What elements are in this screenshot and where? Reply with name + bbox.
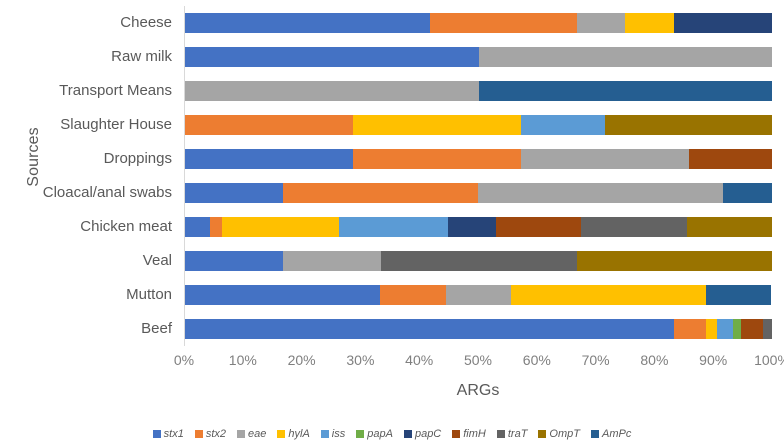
x-axis-tick-label: 40%	[405, 352, 433, 368]
y-axis-label: Cloacal/anal swabs	[43, 176, 172, 210]
bar-segment-OmpT[interactable]	[687, 217, 772, 237]
bar-segment-stx2[interactable]	[674, 319, 706, 339]
plot-area	[184, 6, 772, 346]
bar-segment-stx2[interactable]	[210, 217, 222, 237]
stacked-bar[interactable]	[185, 319, 772, 339]
bar-segment-iss[interactable]	[717, 319, 733, 339]
x-axis-ticks: 0%10%20%30%40%50%60%70%80%90%100%	[184, 352, 772, 374]
legend-swatch-icon	[452, 430, 460, 438]
bar-segment-traT[interactable]	[381, 251, 576, 271]
legend-swatch-icon	[321, 430, 329, 438]
bar-row	[185, 142, 772, 176]
bar-segment-AmPc[interactable]	[479, 81, 773, 101]
bar-segment-stx2[interactable]	[283, 183, 478, 203]
x-axis-tick-label: 30%	[346, 352, 374, 368]
y-axis-label: Transport Means	[59, 74, 172, 108]
bar-segment-iss[interactable]	[339, 217, 448, 237]
stacked-bar[interactable]	[185, 13, 772, 33]
legend-label: OmpT	[549, 428, 580, 440]
legend-label: AmPc	[602, 428, 631, 440]
bar-segment-papC[interactable]	[674, 13, 772, 33]
bar-segment-eae[interactable]	[478, 183, 723, 203]
legend-item-stx2[interactable]: stx2	[195, 428, 226, 440]
legend-item-traT[interactable]: traT	[497, 428, 528, 440]
bar-segment-stx1[interactable]	[185, 149, 353, 169]
bar-segment-stx2[interactable]	[430, 13, 577, 33]
stacked-bar[interactable]	[185, 115, 772, 135]
bar-row	[185, 40, 772, 74]
y-axis-label: Beef	[141, 312, 172, 346]
x-axis-tick-label: 50%	[464, 352, 492, 368]
legend-item-OmpT[interactable]: OmpT	[538, 428, 580, 440]
y-axis-label: Mutton	[126, 278, 172, 312]
x-axis-title: ARGs	[184, 382, 772, 400]
bar-segment-hylA[interactable]	[706, 319, 717, 339]
legend-item-papA[interactable]: papA	[356, 428, 393, 440]
bar-segment-stx1[interactable]	[185, 13, 430, 33]
x-axis-tick-label: 60%	[523, 352, 551, 368]
legend-swatch-icon	[404, 430, 412, 438]
bar-segment-iss[interactable]	[521, 115, 605, 135]
legend-label: fimH	[463, 428, 486, 440]
legend-item-papC[interactable]: papC	[404, 428, 441, 440]
x-axis-tick-label: 20%	[288, 352, 316, 368]
y-axis-label: Slaughter House	[60, 108, 172, 142]
x-axis-tick-label: 100%	[754, 352, 784, 368]
bar-segment-traT[interactable]	[763, 319, 772, 339]
legend-label: traT	[508, 428, 528, 440]
bar-segment-eae[interactable]	[283, 251, 381, 271]
bar-segment-hylA[interactable]	[625, 13, 674, 33]
bar-segment-papC[interactable]	[448, 217, 496, 237]
bar-segment-eae[interactable]	[479, 47, 773, 67]
legend-swatch-icon	[153, 430, 161, 438]
y-axis-label: Raw milk	[111, 40, 172, 74]
x-axis-tick-label: 0%	[174, 352, 194, 368]
legend-label: eae	[248, 428, 266, 440]
legend-item-stx1[interactable]: stx1	[153, 428, 184, 440]
legend-swatch-icon	[237, 430, 245, 438]
bar-segment-hylA[interactable]	[511, 285, 706, 305]
bar-segment-stx1[interactable]	[185, 285, 380, 305]
stacked-bar[interactable]	[185, 81, 772, 101]
stacked-bar[interactable]	[185, 47, 772, 67]
y-axis-label: Chicken meat	[80, 210, 172, 244]
y-axis-label: Veal	[143, 244, 172, 278]
legend-item-AmPc[interactable]: AmPc	[591, 428, 631, 440]
legend-swatch-icon	[497, 430, 505, 438]
bar-segment-traT[interactable]	[581, 217, 687, 237]
bar-row	[185, 108, 772, 142]
bar-row	[185, 74, 772, 108]
bar-segment-stx1[interactable]	[185, 47, 479, 67]
legend-item-eae[interactable]: eae	[237, 428, 266, 440]
bar-segment-papA[interactable]	[733, 319, 741, 339]
y-axis-category-labels: CheeseRaw milkTransport MeansSlaughter H…	[0, 6, 178, 346]
stacked-bar[interactable]	[185, 217, 772, 237]
legend-item-hylA[interactable]: hylA	[277, 428, 309, 440]
stacked-bar[interactable]	[185, 149, 772, 169]
bar-segment-eae[interactable]	[446, 285, 511, 305]
bar-segment-stx1[interactable]	[185, 251, 283, 271]
legend-label: stx1	[164, 428, 184, 440]
x-axis-tick-label: 80%	[640, 352, 668, 368]
bar-segment-stx1[interactable]	[185, 217, 210, 237]
bar-row	[185, 6, 772, 40]
legend-label: papA	[367, 428, 393, 440]
bar-segment-fimH[interactable]	[689, 149, 772, 169]
legend-swatch-icon	[538, 430, 546, 438]
stacked-bar[interactable]	[185, 183, 772, 203]
legend-label: iss	[332, 428, 345, 440]
legend-swatch-icon	[195, 430, 203, 438]
bar-segment-hylA[interactable]	[353, 115, 521, 135]
legend-item-fimH[interactable]: fimH	[452, 428, 486, 440]
legend-swatch-icon	[356, 430, 364, 438]
bar-segment-fimH[interactable]	[741, 319, 763, 339]
legend-swatch-icon	[591, 430, 599, 438]
bar-segment-stx1[interactable]	[185, 319, 674, 339]
bar-segment-hylA[interactable]	[222, 217, 339, 237]
bar-row	[185, 210, 772, 244]
bar-segment-stx2[interactable]	[353, 149, 521, 169]
stacked-bar-chart: Sources CheeseRaw milkTransport MeansSla…	[0, 0, 784, 446]
y-axis-label: Droppings	[104, 142, 172, 176]
chart-legend: stx1stx2eaehylAisspapApapCfimHtraTOmpTAm…	[0, 428, 784, 440]
bar-segment-AmPc[interactable]	[706, 285, 771, 305]
x-axis-tick-label: 70%	[582, 352, 610, 368]
bar-segment-OmpT[interactable]	[577, 251, 772, 271]
bar-segment-OmpT[interactable]	[605, 115, 772, 135]
x-axis-tick-label: 90%	[699, 352, 727, 368]
bar-row	[185, 244, 772, 278]
y-axis-label: Cheese	[120, 6, 172, 40]
legend-item-iss[interactable]: iss	[321, 428, 345, 440]
stacked-bar[interactable]	[185, 285, 772, 305]
bar-row	[185, 176, 772, 210]
bar-segment-stx2[interactable]	[380, 285, 445, 305]
bar-segment-eae[interactable]	[521, 149, 689, 169]
x-axis-tick-label: 10%	[229, 352, 257, 368]
bar-segment-stx1[interactable]	[185, 183, 283, 203]
bar-segment-eae[interactable]	[577, 13, 626, 33]
legend-swatch-icon	[277, 430, 285, 438]
legend-label: hylA	[288, 428, 309, 440]
bar-row	[185, 312, 772, 346]
bar-segment-AmPc[interactable]	[723, 183, 772, 203]
bar-row	[185, 278, 772, 312]
bar-segment-eae[interactable]	[185, 81, 479, 101]
stacked-bar[interactable]	[185, 251, 772, 271]
legend-label: papC	[415, 428, 441, 440]
bar-segment-stx2[interactable]	[185, 115, 353, 135]
bar-segment-fimH[interactable]	[496, 217, 581, 237]
legend-label: stx2	[206, 428, 226, 440]
